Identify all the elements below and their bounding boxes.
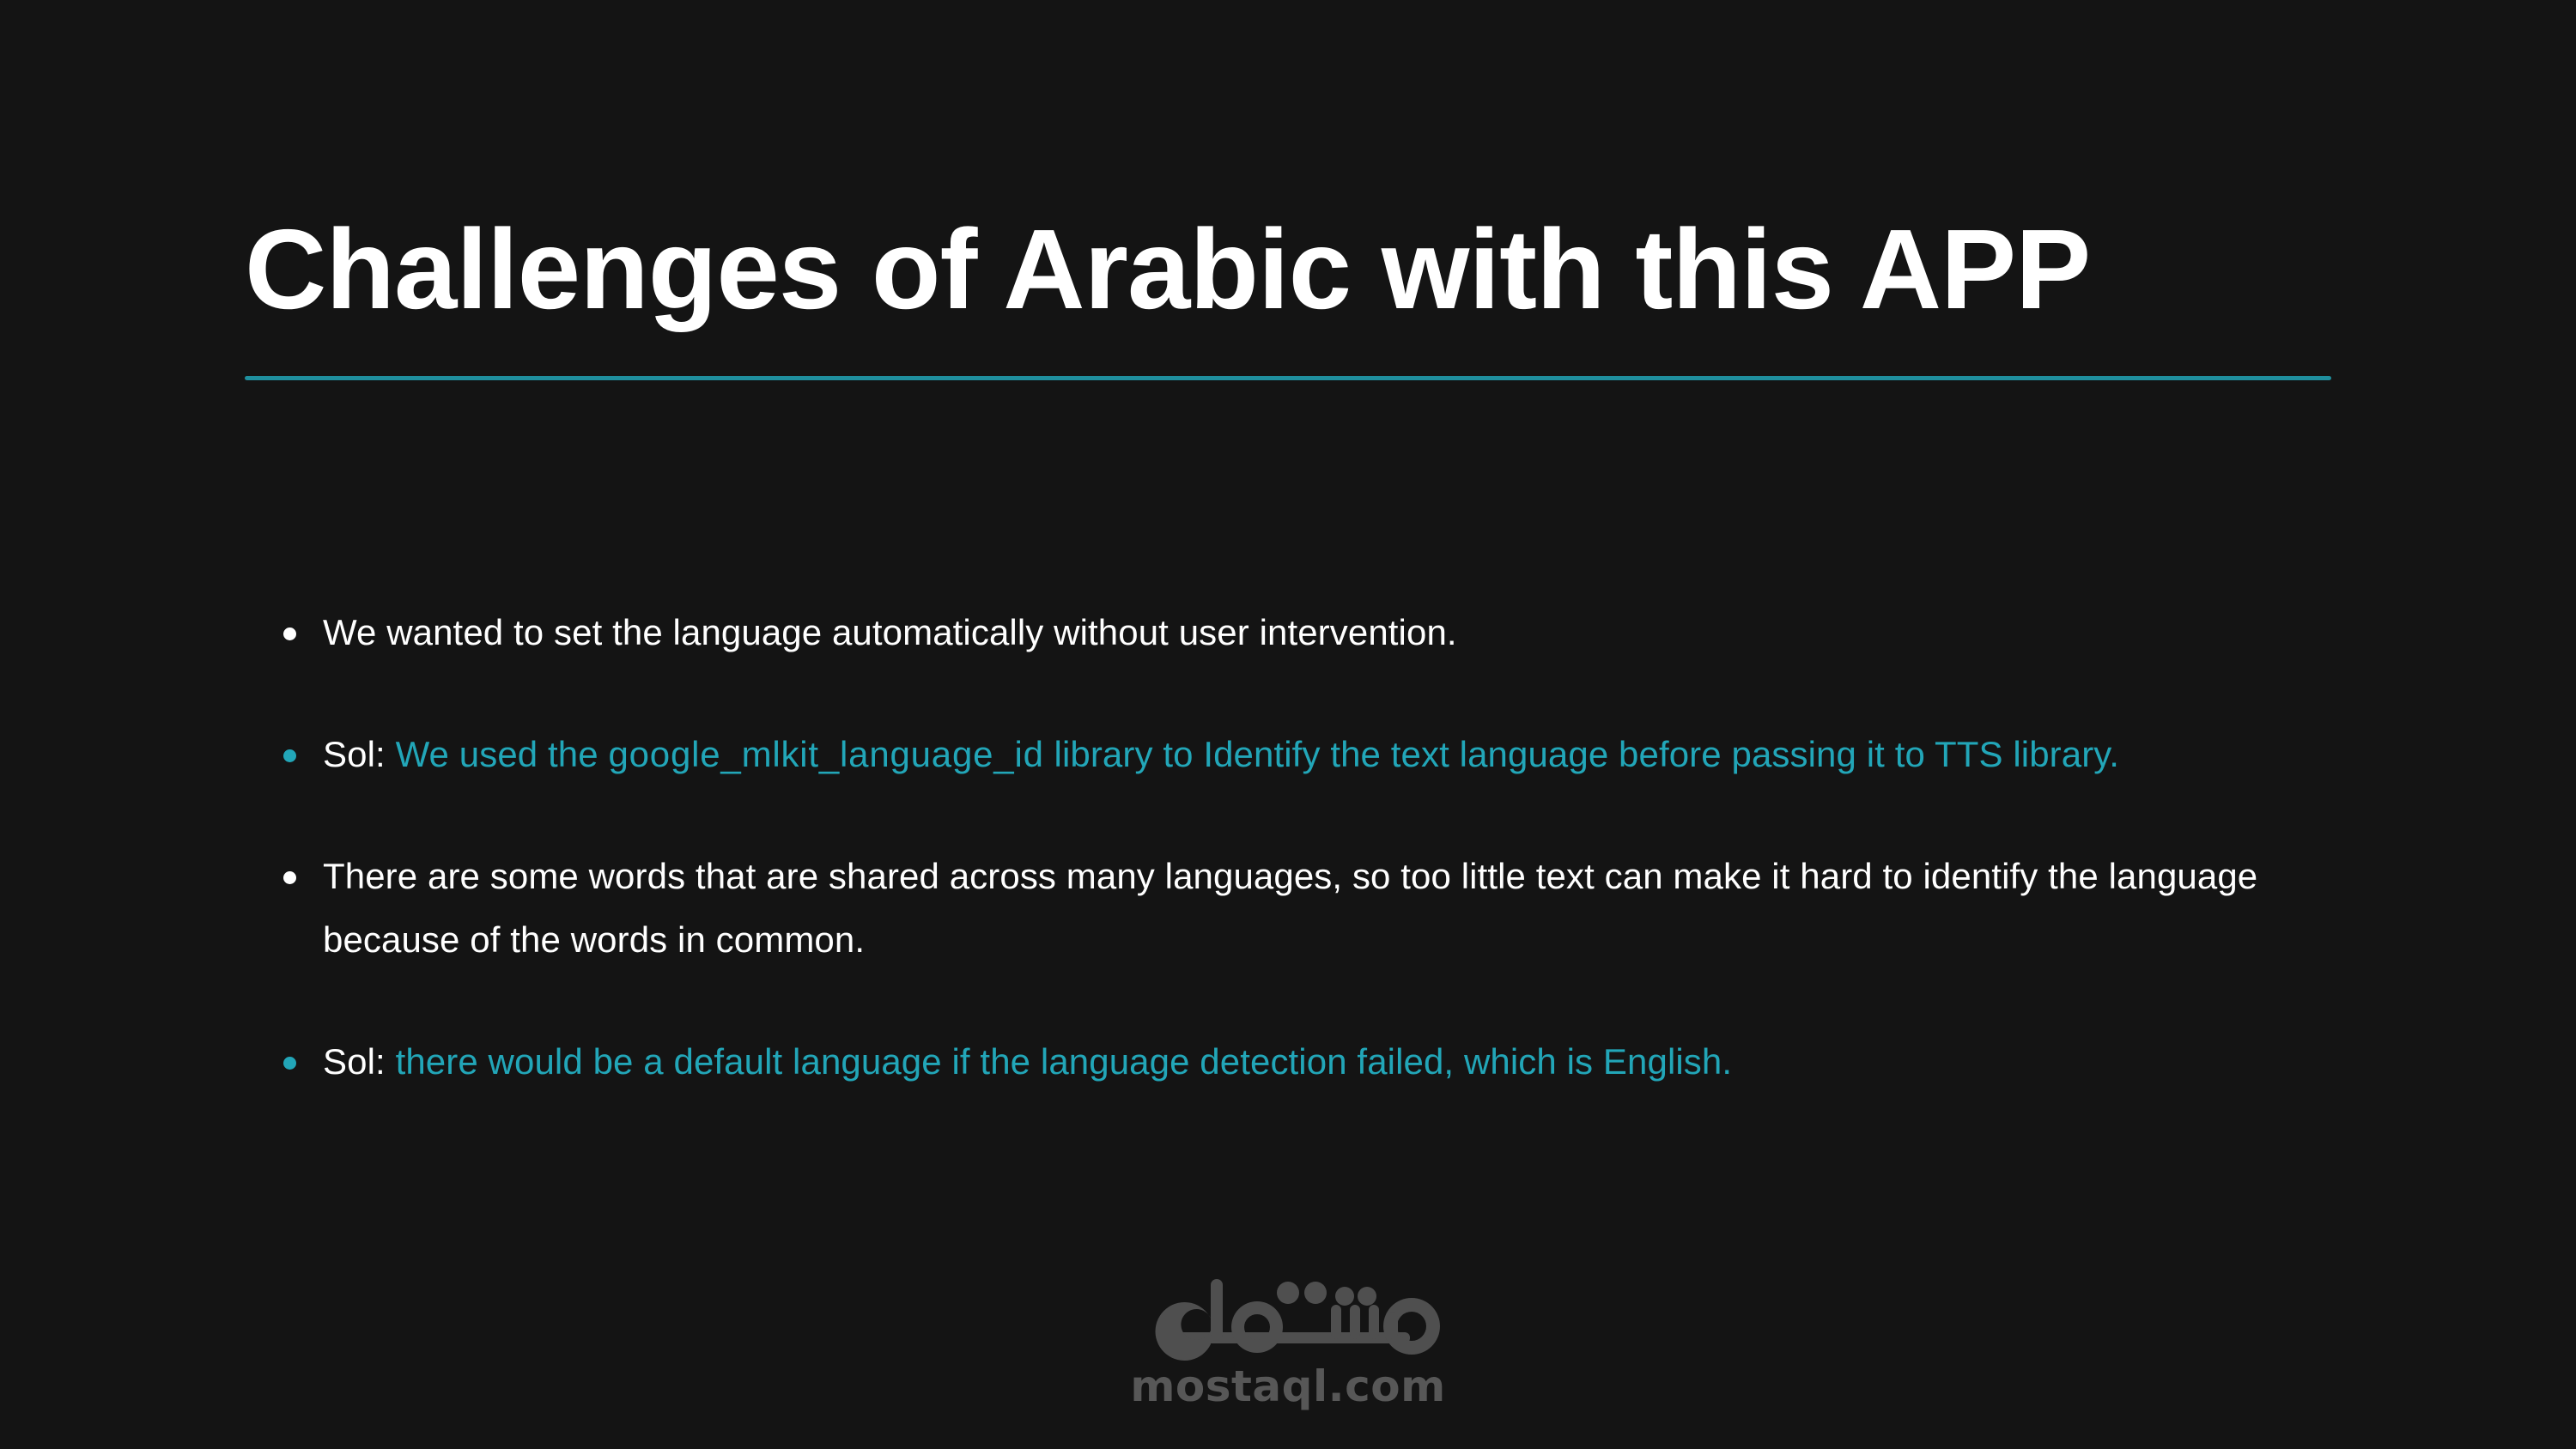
watermark-domain-text: mostaql.com xyxy=(1130,1365,1445,1408)
bullet-dot-icon xyxy=(283,627,296,640)
watermark: mostaql.com xyxy=(0,1267,2576,1408)
bullet-dot-icon xyxy=(283,871,296,884)
slide-canvas: Challenges of Arabic with this APP We wa… xyxy=(0,0,2576,1449)
list-item-text: We wanted to set the language automatica… xyxy=(323,612,1457,652)
solution-label: Sol: xyxy=(323,1041,386,1082)
solution-text-before-code: We used the xyxy=(396,734,598,774)
title-block: Challenges of Arabic with this APP xyxy=(245,213,2331,380)
solution-label: Sol: xyxy=(323,734,386,774)
bullet-list: We wanted to set the language automatica… xyxy=(273,601,2351,1094)
list-item: There are some words that are shared acr… xyxy=(273,845,2351,972)
page-title: Challenges of Arabic with this APP xyxy=(245,213,2331,326)
solution-text-after-code: library to Identify the text language be… xyxy=(1054,734,2120,774)
mostaql-logo-icon xyxy=(1128,1267,1448,1363)
list-item: Sol: there would be a default language i… xyxy=(273,1030,2351,1094)
list-item: We wanted to set the language automatica… xyxy=(273,601,2351,664)
bullet-dot-icon xyxy=(283,1057,296,1070)
list-item-text: There are some words that are shared acr… xyxy=(323,856,2257,960)
title-divider xyxy=(245,376,2331,380)
library-name: google_mlkit_language_id xyxy=(608,734,1043,774)
list-item: Sol: We used the google_mlkit_language_i… xyxy=(273,723,2351,786)
bullet-dot-icon xyxy=(283,749,296,762)
solution-text: there would be a default language if the… xyxy=(396,1041,1733,1082)
